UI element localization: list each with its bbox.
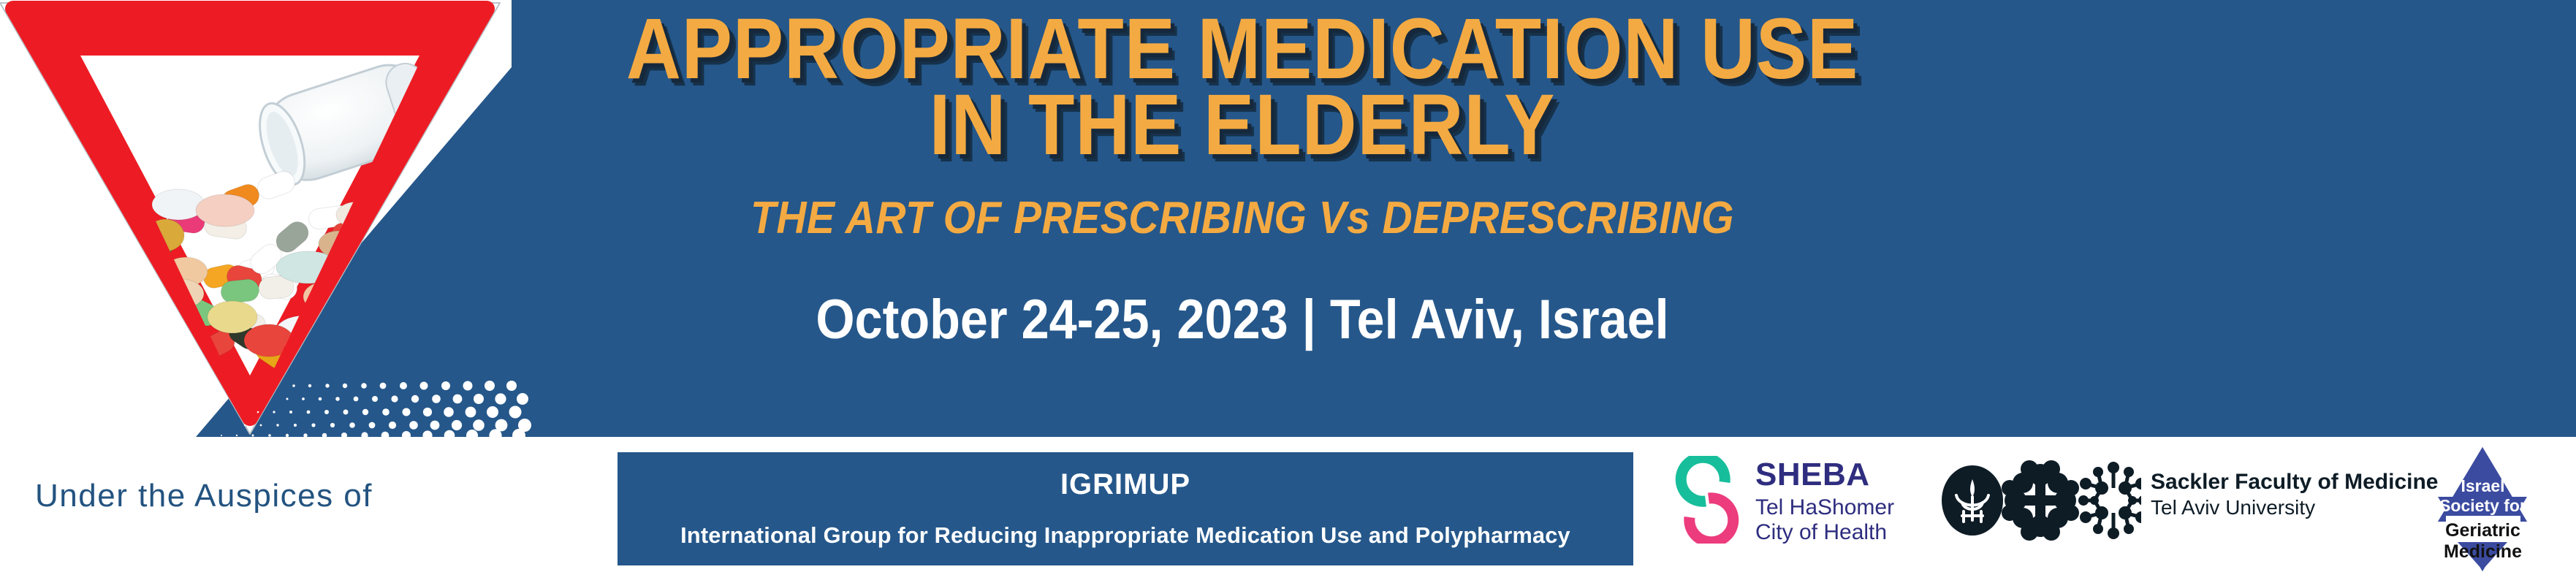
israel-geriatric-society-logo[interactable]: Israel Society for Geriatric Medicine	[2408, 440, 2558, 579]
sheba-logo[interactable]: SHEBA Tel HaShomer City of Health	[1660, 446, 1909, 555]
sheba-name: SHEBA	[1755, 459, 1916, 491]
conference-banner: APPROPRIATE MEDICATION USE IN THE ELDERL…	[0, 0, 2576, 583]
title-line-2: IN THE ELDERLY	[599, 82, 1885, 168]
warning-triangle-pills-artwork	[0, 0, 506, 437]
tau-faculty-name: Sackler Faculty of Medicine	[2151, 469, 2385, 495]
title-block: APPROPRIATE MEDICATION USE IN THE ELDERL…	[512, 0, 2576, 437]
igrimup-acronym: IGRIMUP	[618, 468, 1633, 501]
tau-sackler-logo[interactable]: Sackler Faculty of Medicine Tel Aviv Uni…	[1940, 453, 2379, 552]
tau-university-name: Tel Aviv University	[2151, 495, 2385, 520]
banner-footer: Under the Auspices of IGRIMUP Internatio…	[0, 437, 2576, 583]
tagline: THE ART OF PRESCRIBING Vs DEPRESCRIBING	[570, 196, 1915, 241]
star-of-david-icon	[2408, 440, 2558, 579]
tau-wordmark: Sackler Faculty of Medicine Tel Aviv Uni…	[2151, 469, 2385, 520]
sheba-subtitle-1: Tel HaShomer	[1755, 495, 1916, 520]
sheba-wordmark: SHEBA Tel HaShomer City of Health	[1755, 459, 1916, 544]
auspices-label: Under the Auspices of	[35, 478, 373, 514]
igrimup-full-name: International Group for Reducing Inappro…	[623, 522, 1628, 549]
sheba-interlocking-s-icon	[1660, 456, 1754, 544]
banner-header: APPROPRIATE MEDICATION USE IN THE ELDERL…	[0, 0, 2576, 437]
igrimup-logo-box[interactable]: IGRIMUP International Group for Reducing…	[618, 452, 1633, 565]
date-location-line: October 24-25, 2023 | Tel Aviv, Israel	[585, 292, 1900, 348]
sheba-subtitle-2: City of Health	[1755, 520, 1916, 545]
tau-emblems-icon	[1940, 453, 2141, 548]
